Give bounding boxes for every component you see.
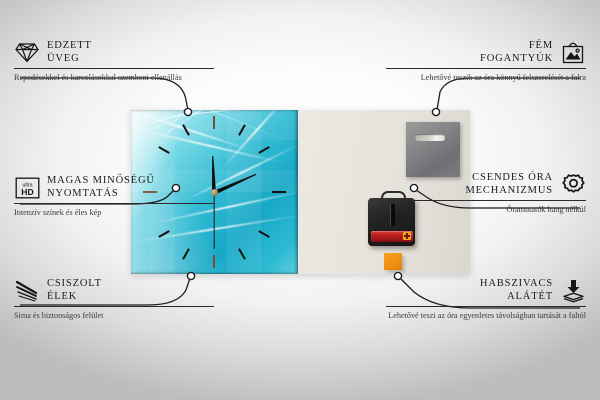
callout-header: HABSZIVACS ALÁTÉT — [386, 278, 586, 303]
callout-polished-edges: CSISZOLT ÉLEK Sima és biztonságos felüle… — [14, 278, 214, 322]
diamond-icon — [14, 41, 40, 65]
callout-description: Intenzív színek és éles kép — [14, 208, 214, 219]
foam-pad — [384, 253, 402, 270]
hanger-slot — [415, 134, 445, 141]
callout-divider — [14, 68, 214, 69]
callout-divider — [386, 306, 586, 307]
callout-silent-mechanism: CSENDES ÓRA MECHANIZMUS Óramutatók hang … — [386, 172, 586, 216]
callout-description: Repedésekkel és karcolásokkal szembeni e… — [14, 73, 214, 84]
callout-divider — [386, 68, 586, 69]
callout-tempered-glass: EDZETT ÜVEG Repedésekkel és karcolásokka… — [14, 40, 214, 84]
polished-edge-icon — [14, 279, 40, 303]
press-down-pad-icon — [560, 279, 586, 303]
callout-description: Óramutatók hang nélkül — [386, 205, 586, 216]
callout-header: CSISZOLT ÉLEK — [14, 278, 214, 303]
ultra-hd-icon: ultra HD — [14, 176, 40, 200]
callout-header: CSENDES ÓRA MECHANIZMUS — [386, 172, 586, 197]
infographic-canvas: EDZETT ÜVEG Repedésekkel és karcolásokka… — [0, 0, 600, 400]
callout-header: FÉM FOGANTYÚK — [386, 40, 586, 65]
callout-description: Sima és biztonságos felület — [14, 311, 214, 322]
callout-title: CSISZOLT ÉLEK — [47, 278, 102, 303]
callout-divider — [386, 200, 586, 201]
callout-title: CSENDES ÓRA MECHANIZMUS — [465, 172, 553, 197]
callout-divider — [14, 203, 214, 204]
gear-icon — [560, 173, 586, 197]
callout-metal-hooks: FÉM FOGANTYÚK Lehetővé teszik az óra kön… — [386, 40, 586, 84]
callout-description: Lehetővé teszik az óra könnyű felszerelé… — [386, 73, 586, 84]
callout-title: EDZETT ÜVEG — [47, 40, 92, 65]
callout-title: MAGAS MINŐSÉGŰ NYOMTATÁS — [47, 175, 155, 200]
battery-plus-terminal — [403, 232, 411, 240]
callout-divider — [14, 306, 214, 307]
metal-hanger-plate — [406, 122, 460, 177]
callout-description: Lehetővé teszi az óra egyenletes távolsá… — [386, 311, 586, 322]
callout-title: FÉM FOGANTYÚK — [480, 40, 553, 65]
callout-foam-pad: HABSZIVACS ALÁTÉT Lehetővé teszi az óra … — [386, 278, 586, 322]
callout-title: HABSZIVACS ALÁTÉT — [480, 278, 553, 303]
callout-header: ultra HD MAGAS MINŐSÉGŰ NYOMTATÁS — [14, 175, 214, 200]
picture-hanger-icon — [560, 41, 586, 65]
battery — [371, 231, 413, 242]
callout-hd-print: ultra HD MAGAS MINŐSÉGŰ NYOMTATÁS Intenz… — [14, 175, 214, 219]
callout-header: EDZETT ÜVEG — [14, 40, 214, 65]
svg-text:HD: HD — [21, 187, 33, 197]
